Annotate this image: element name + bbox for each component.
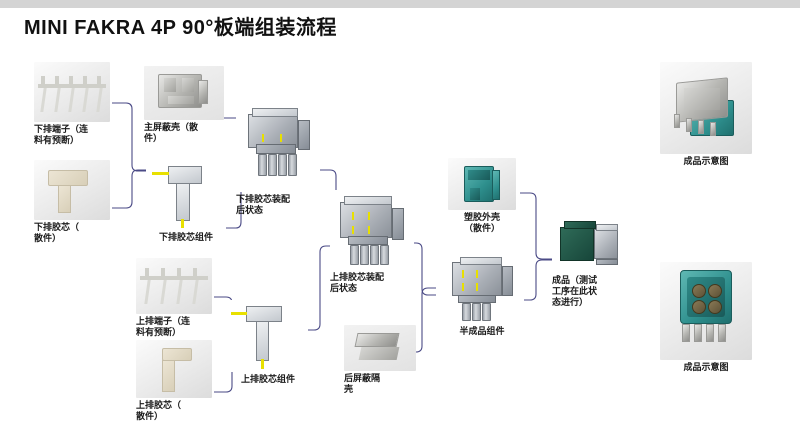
plastic-housing-label: 塑胶外壳 （散件） <box>448 213 516 235</box>
upper-assembled-photo <box>330 190 414 270</box>
node-lower-core-asm[interactable]: 下排胶芯组件 <box>146 160 226 244</box>
main-shield-label: 主屏蔽壳（散 件） <box>144 123 224 145</box>
flowchart-canvas: MINI FAKRA 4P 90°板端组装流程 <box>0 0 800 438</box>
node-lower-assembled[interactable]: 下排胶芯装配 后状态 <box>236 100 320 217</box>
link-semi-finished <box>520 260 552 300</box>
top-strip <box>0 0 800 8</box>
node-upper-terminal[interactable]: 上排端子（连 料有预断） <box>136 258 212 339</box>
lower-terminal-photo <box>34 62 110 122</box>
upper-core-asm-label: 上排胶芯组件 <box>228 375 308 386</box>
lower-core-asm-photo <box>146 160 226 230</box>
link-plastic-housing <box>520 193 552 259</box>
lower-core-asm-label: 下排胶芯组件 <box>146 233 226 244</box>
node-plastic-housing[interactable]: 塑胶外壳 （散件） <box>448 158 516 235</box>
finished-photo <box>552 215 632 273</box>
plastic-housing-photo <box>448 158 516 210</box>
link-lower-core <box>112 170 146 208</box>
rear-shield-photo <box>344 325 416 371</box>
node-upper-assembled[interactable]: 上排胶芯装配 后状态 <box>330 190 414 295</box>
upper-assembled-label: 上排胶芯装配 后状态 <box>330 273 414 295</box>
lower-core-label: 下排胶芯（ 散件） <box>34 223 110 245</box>
main-shield-photo <box>144 66 224 120</box>
node-main-shield[interactable]: 主屏蔽壳（散 件） <box>144 66 224 145</box>
lower-core-photo <box>34 160 110 220</box>
node-semi-finished[interactable]: 半成品组件 <box>440 252 524 338</box>
page-title: MINI FAKRA 4P 90°板端组装流程 <box>24 11 337 40</box>
semi-finished-label: 半成品组件 <box>440 327 524 338</box>
node-finished[interactable]: 成品（测试 工序在此状 态进行） <box>552 215 632 309</box>
finished-photo-1-image <box>660 62 752 154</box>
node-lower-core[interactable]: 下排胶芯（ 散件） <box>34 160 110 245</box>
node-lower-terminal[interactable]: 下排端子（连 料有预断） <box>34 62 110 147</box>
finished-photo-2-image <box>660 262 752 360</box>
node-upper-core-asm[interactable]: 上排胶芯组件 <box>228 300 308 386</box>
link-lower-terminal <box>112 103 146 171</box>
node-rear-shield[interactable]: 后屏蔽隔 壳 <box>344 325 416 396</box>
finished-label: 成品（测试 工序在此状 态进行） <box>552 276 632 309</box>
upper-core-photo <box>136 340 212 398</box>
lower-assembled-photo <box>236 100 320 192</box>
finished-photo-1-label: 成品示意图 <box>660 157 752 168</box>
rear-shield-label: 后屏蔽隔 壳 <box>344 374 416 396</box>
upper-terminal-photo <box>136 258 212 314</box>
upper-terminal-label: 上排端子（连 料有预断） <box>136 317 212 339</box>
semi-finished-photo <box>440 252 524 324</box>
lower-terminal-label: 下排端子（连 料有预断） <box>34 125 110 147</box>
upper-core-asm-photo <box>228 300 308 372</box>
lower-assembled-label: 下排胶芯装配 后状态 <box>236 195 320 217</box>
node-finished-photo-1[interactable]: 成品示意图 <box>660 62 752 168</box>
finished-photo-2-label: 成品示意图 <box>660 363 752 374</box>
node-upper-core[interactable]: 上排胶芯（ 散件） <box>136 340 212 423</box>
node-finished-photo-2[interactable]: 成品示意图 <box>660 262 752 374</box>
upper-core-label: 上排胶芯（ 散件） <box>136 401 212 423</box>
